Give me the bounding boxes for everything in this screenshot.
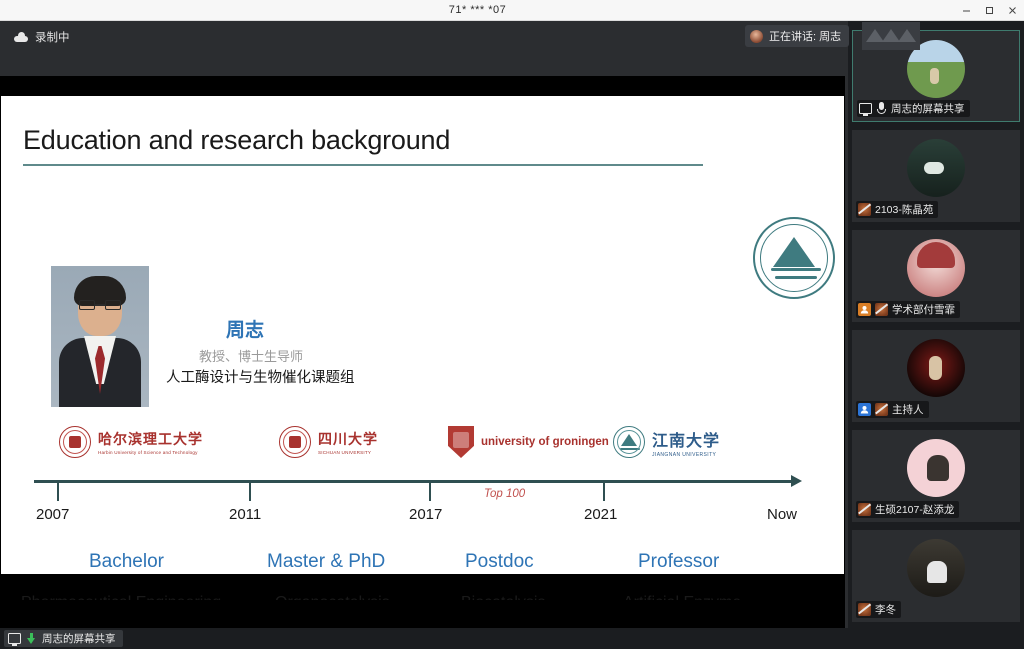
timeline-year: Now <box>767 506 797 523</box>
university-logos: 哈尔滨理工大学 Harbin University of Science and… <box>1 426 844 472</box>
recording-indicator: 录制中 <box>14 29 70 45</box>
speaking-indicator: 正在讲话: 周志 <box>745 25 849 47</box>
title-underline <box>23 164 703 166</box>
stage-title: Professor <box>638 551 719 573</box>
harbin-seal-icon <box>59 426 91 458</box>
taskbar-label: 周志的屏幕共享 <box>42 631 116 646</box>
groningen-shield-icon <box>448 426 474 458</box>
speaker-avatar <box>750 30 763 43</box>
person-name: 周志 <box>226 315 264 342</box>
sichuan-seal-icon <box>279 426 311 458</box>
screen-share-icon <box>859 103 872 114</box>
stage-title: Master & PhD <box>267 551 385 573</box>
participant-label-bar: 生硕2107-赵添龙 <box>856 501 959 518</box>
logo-jiangnan: 江南大学 JIANGNAN UNIVERSITY <box>613 426 720 458</box>
page-title: Education and research background <box>23 125 450 156</box>
participants-rail[interactable]: 周志的屏幕共享 2103-陈晶苑 学术部付雪霏 <box>848 21 1024 628</box>
window-title: 71* *** *07 <box>0 4 955 16</box>
participant-tile-3[interactable]: 学术部付雪霏 <box>852 230 1020 322</box>
participant-tile-2[interactable]: 2103-陈晶苑 <box>852 130 1020 222</box>
window-controls <box>955 0 1024 21</box>
logo-label-en: Harbin University of Science and Technol… <box>98 450 203 455</box>
participant-name: 周志的屏幕共享 <box>891 101 965 116</box>
participant-label-bar: 2103-陈晶苑 <box>856 201 938 218</box>
timeline-tick <box>57 483 59 501</box>
logo-label-en: JIANGNAN UNIVERSITY <box>652 452 720 458</box>
timeline-tick <box>429 483 431 501</box>
participant-name: 2103-陈晶苑 <box>875 202 933 217</box>
screen-share-icon <box>8 633 21 644</box>
participant-name: 生硕2107-赵添龙 <box>875 502 954 517</box>
logo-label-en: SICHUAN UNIVERSITY <box>318 450 378 455</box>
mic-icon <box>876 102 887 115</box>
logo-groningen: university of groningen <box>448 426 609 458</box>
timeline-year: 2021 <box>584 506 617 523</box>
mic-muted-icon <box>875 403 888 416</box>
person-role: 教授、博士生导师 <box>199 346 303 365</box>
mic-muted-icon <box>858 203 871 216</box>
restore-icon[interactable] <box>978 0 1001 21</box>
speaking-label: 正在讲话: 周志 <box>769 28 841 44</box>
close-icon[interactable] <box>1001 0 1024 21</box>
recording-label: 录制中 <box>35 29 70 45</box>
participant-label-bar: 李冬 <box>856 601 901 618</box>
participant-tile-5[interactable]: 生硕2107-赵添龙 <box>852 430 1020 522</box>
logo-label-zh: 哈尔滨理工大学 <box>98 429 203 449</box>
taskbar: 周志的屏幕共享 <box>0 628 1024 649</box>
avatar <box>907 439 965 497</box>
avatar <box>907 339 965 397</box>
timeline-year: 2011 <box>229 506 261 523</box>
stage-title: Postdoc <box>465 551 534 573</box>
meeting-window: 71* *** *07 录制中 正在讲话: 周志 Education and r… <box>0 0 1024 649</box>
timeline-axis <box>34 480 794 483</box>
participant-name: 学术部付雪霏 <box>892 302 955 317</box>
participant-name: 主持人 <box>892 402 924 417</box>
jiangnan-university-seal-icon <box>753 217 835 299</box>
person-group: 人工酶设计与生物催化课题组 <box>166 366 355 387</box>
minimize-icon[interactable] <box>955 0 978 21</box>
share-bottom-strip <box>0 600 845 628</box>
timeline-year: 2007 <box>36 506 69 523</box>
timeline-year: 2017 <box>409 506 442 523</box>
taskbar-screen-share-item[interactable]: 周志的屏幕共享 <box>4 630 123 647</box>
logo-label-zh: 江南大学 <box>652 427 720 451</box>
participant-label-bar: 主持人 <box>856 401 929 418</box>
co-host-badge-icon <box>858 303 871 316</box>
timeline-tick <box>603 483 605 501</box>
stage-title: Bachelor <box>89 551 164 573</box>
mic-muted-icon <box>858 603 871 616</box>
download-arrow-icon <box>26 633 37 645</box>
presentation-slide: Education and research background 周志 教授、… <box>1 96 844 574</box>
timeline-arrow-icon <box>791 475 802 487</box>
logo-harbin: 哈尔滨理工大学 Harbin University of Science and… <box>59 426 203 458</box>
mic-muted-icon <box>858 503 871 516</box>
participant-tile-host[interactable]: 主持人 <box>852 330 1020 422</box>
participant-label-bar: 周志的屏幕共享 <box>857 100 970 117</box>
portrait-photo <box>51 266 149 407</box>
avatar <box>907 539 965 597</box>
avatar <box>907 139 965 197</box>
logo-sichuan: 四川大学 SICHUAN UNIVERSITY <box>279 426 378 458</box>
shared-screen-area[interactable]: Education and research background 周志 教授、… <box>0 76 845 600</box>
avatar <box>907 239 965 297</box>
timeline-annotation: Top 100 <box>484 488 525 500</box>
logo-label-zh: 四川大学 <box>318 429 378 449</box>
participant-tile-6[interactable]: 李冬 <box>852 530 1020 622</box>
logo-label-en: university of groningen <box>481 436 609 449</box>
participant-label-bar: 学术部付雪霏 <box>856 301 960 318</box>
host-badge-icon <box>858 403 871 416</box>
mic-muted-icon <box>875 303 888 316</box>
window-title-bar: 71* *** *07 <box>0 0 1024 21</box>
cloud-icon <box>14 32 28 42</box>
timeline-tick <box>249 483 251 501</box>
participant-name: 李冬 <box>875 602 896 617</box>
audio-wave-icon <box>862 22 920 50</box>
jiangnan-seal-icon <box>613 426 645 458</box>
